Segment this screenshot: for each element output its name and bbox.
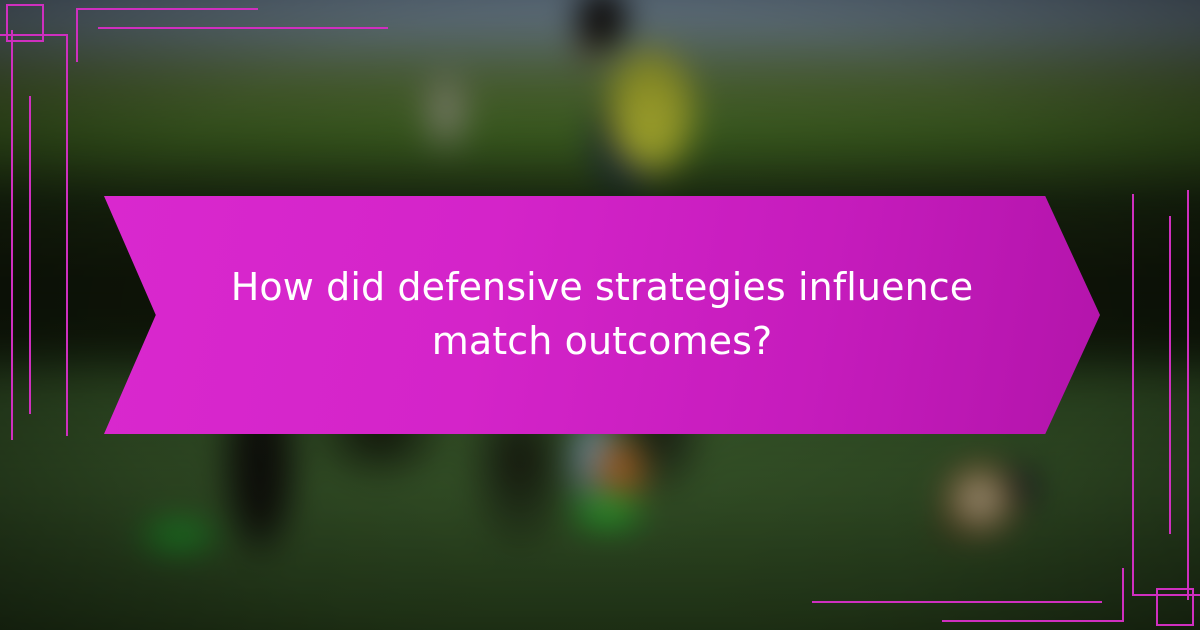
corner-elbow-line [76,8,258,62]
headline-text: How did defensive strategies influence m… [167,261,1037,369]
headline-banner: How did defensive strategies influence m… [104,196,1100,434]
corner-horizontal-line-2 [98,27,388,29]
corner-vertical-line-1 [1187,190,1189,600]
corner-elbow-line-inner [1132,194,1200,596]
corner-decoration-top-left [0,0,120,170]
corner-vertical-line-2 [29,96,31,414]
corner-vertical-line-1 [11,30,13,440]
quote-card: How did defensive strategies influence m… [0,0,1200,630]
corner-horizontal-line-2 [812,601,1102,603]
corner-elbow-line [942,568,1124,622]
corner-vertical-line-2 [1169,216,1171,534]
corner-decoration-bottom-right [1080,460,1200,630]
